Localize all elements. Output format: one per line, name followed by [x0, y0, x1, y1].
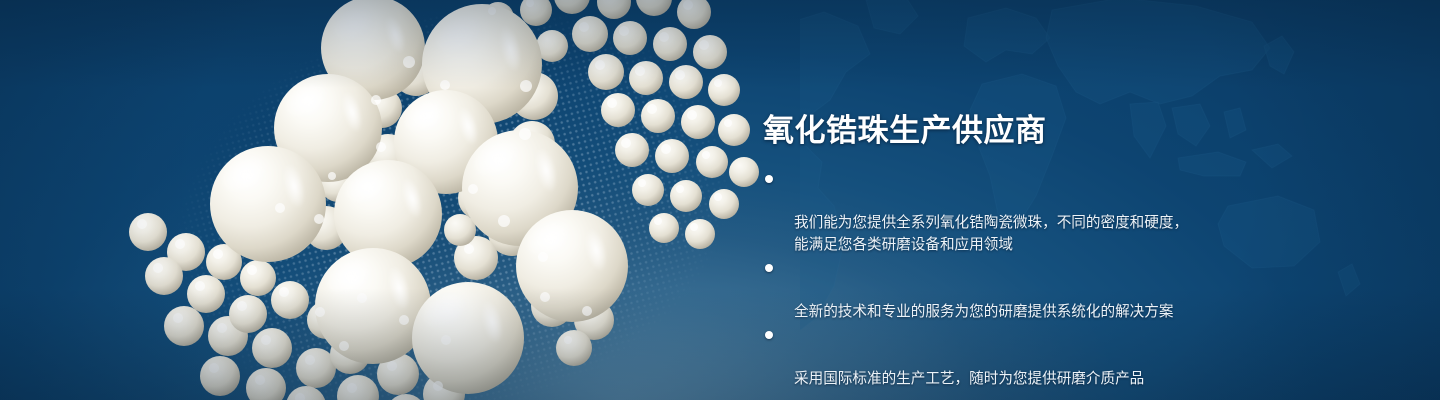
list-item-label: 我们能为您提供全系列氧化锆陶瓷微珠，不同的密度和硬度， 能满足您各类研磨设备和应… — [794, 215, 1188, 253]
list-item-label: 采用国际标准的生产工艺，随时为您提供研磨介质产品 — [794, 371, 1144, 387]
bullet-dot-icon — [765, 331, 773, 339]
bullet-dot-icon — [765, 175, 773, 183]
banner-content: 氧化锆珠生产供应商 我们能为您提供全系列氧化锆陶瓷微珠，不同的密度和硬度， 能满… — [763, 0, 1383, 400]
feature-list: 我们能为您提供全系列氧化锆陶瓷微珠，不同的密度和硬度， 能满足您各类研磨设备和应… — [765, 168, 1188, 391]
list-item: 我们能为您提供全系列氧化锆陶瓷微珠，不同的密度和硬度， 能满足您各类研磨设备和应… — [765, 168, 1188, 256]
bullet-dot-icon — [765, 264, 773, 272]
hero-banner: 氧化锆珠生产供应商 我们能为您提供全系列氧化锆陶瓷微珠，不同的密度和硬度， 能满… — [0, 0, 1440, 400]
page-title: 氧化锆珠生产供应商 — [763, 105, 1047, 150]
list-item: 采用国际标准的生产工艺，随时为您提供研磨介质产品 — [765, 324, 1188, 390]
list-item-label: 全新的技术和专业的服务为您的研磨提供系统化的解决方案 — [794, 304, 1173, 320]
list-item: 全新的技术和专业的服务为您的研磨提供系统化的解决方案 — [765, 257, 1188, 323]
